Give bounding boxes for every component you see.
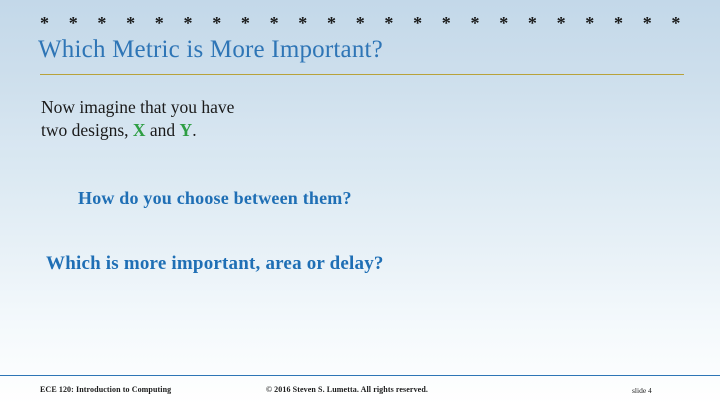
slide-body-text: Now imagine that you have two designs, X… [41, 96, 234, 142]
body-line-2: two designs, X and Y. [41, 119, 234, 142]
variable-y-label: Y [180, 120, 193, 140]
footer-divider-rule [0, 375, 720, 376]
variable-x-label: X [133, 120, 146, 140]
body-line-1: Now imagine that you have [41, 96, 234, 119]
slide-canvas: * * * * * * * * * * * * * * * * * * * * … [0, 0, 720, 405]
footer-course-label: ECE 120: Introduction to Computing [40, 385, 171, 394]
question-area-or-delay: Which is more important, area or delay? [46, 253, 384, 275]
slide-title: Which Metric is More Important? [38, 36, 383, 64]
body-line-2-prefix: two designs, [41, 120, 133, 140]
star-divider-decoration: * * * * * * * * * * * * * * * * * * * * … [40, 14, 688, 32]
footer-slide-number: slide 4 [632, 386, 652, 395]
body-line-2-suffix: . [192, 120, 196, 140]
footer-copyright-label: © 2016 Steven S. Lumetta. All rights res… [266, 385, 428, 394]
body-line-2-middle: and [146, 120, 180, 140]
question-choose-between: How do you choose between them? [78, 188, 352, 209]
title-underline-rule [40, 74, 684, 75]
